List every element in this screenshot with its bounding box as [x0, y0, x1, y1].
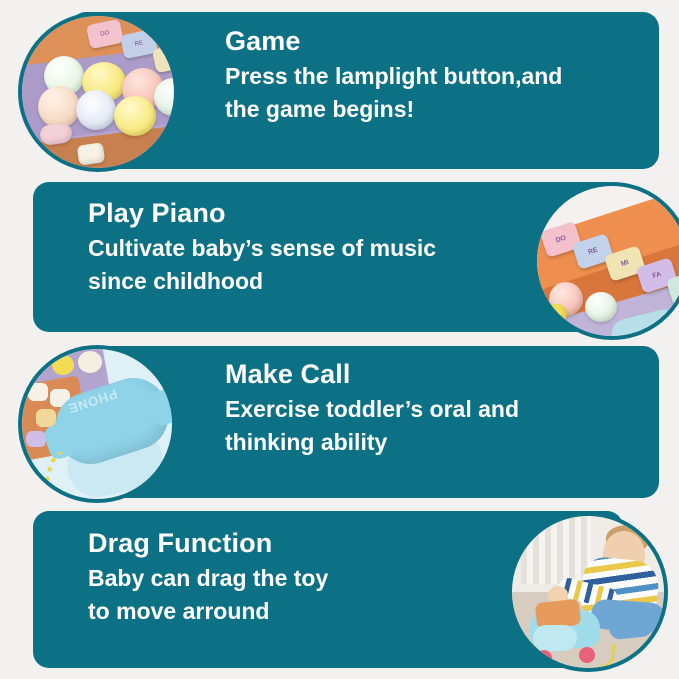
feature-title-play-piano: Play Piano — [88, 197, 543, 230]
feature-description-line: Press the lamplight button,and — [225, 60, 645, 93]
photo-inner: DO RE MI FA SOL — [537, 186, 679, 336]
photo-inner: DO RE — [22, 16, 174, 168]
light-dot-white — [76, 90, 116, 130]
feature-description-game: Press the lamplight button,and the game … — [225, 60, 645, 125]
feature-title-make-call: Make Call — [225, 358, 645, 391]
feature-description-line: thinking ability — [225, 426, 645, 459]
toy-phone-photo: PHONE — [18, 345, 176, 503]
game-buttons-photo: DO RE — [18, 12, 178, 172]
animal-key-4 — [26, 431, 46, 447]
piano-keys-illustration: DO RE MI FA SOL — [537, 186, 679, 336]
feature-text-play-piano: Play Piano Cultivate baby’s sense of mus… — [88, 197, 543, 297]
animal-key-1 — [28, 383, 48, 401]
feature-title-drag-function: Drag Function — [88, 527, 518, 560]
mini-button-yellow — [52, 355, 74, 375]
feature-description-drag-function: Baby can drag the toy to move arround — [88, 562, 518, 627]
radiator — [521, 516, 591, 584]
feature-description-line: Baby can drag the toy — [88, 562, 518, 595]
sticker-white — [77, 142, 106, 165]
toddler-dragging-toy-photo — [508, 512, 668, 672]
feature-text-drag-function: Drag Function Baby can drag the toy to m… — [88, 527, 518, 627]
toy-phone-illustration: PHONE — [22, 349, 172, 499]
mini-button-cream — [78, 351, 102, 373]
light-dot-peach — [38, 86, 80, 128]
feature-title-game: Game — [225, 25, 645, 58]
feature-description-line: to move arround — [88, 595, 518, 628]
feature-description-line: the game begins! — [225, 93, 645, 126]
toddler-illustration — [512, 516, 664, 668]
feature-infographic: Game Press the lamplight button,and the … — [0, 0, 679, 679]
toy-wheel-left — [536, 650, 552, 666]
piano-keys-photo: DO RE MI FA SOL — [533, 182, 679, 340]
feature-description-line: Cultivate baby’s sense of music — [88, 232, 543, 265]
feature-description-line: Exercise toddler’s oral and — [225, 393, 645, 426]
photo-inner: PHONE — [22, 349, 172, 499]
light-dot-green — [585, 292, 617, 322]
feature-description-line: since childhood — [88, 265, 543, 298]
light-dot-yellow-2 — [114, 96, 156, 136]
photo-inner — [512, 516, 664, 668]
light-dot-yellow — [541, 304, 567, 324]
toy-pull-string — [553, 638, 615, 668]
feature-text-make-call: Make Call Exercise toddler’s oral and th… — [225, 358, 645, 458]
game-buttons-illustration: DO RE — [22, 16, 174, 168]
feature-description-make-call: Exercise toddler’s oral and thinking abi… — [225, 393, 645, 458]
feature-text-game: Game Press the lamplight button,and the … — [225, 25, 645, 125]
feature-description-play-piano: Cultivate baby’s sense of music since ch… — [88, 232, 543, 297]
